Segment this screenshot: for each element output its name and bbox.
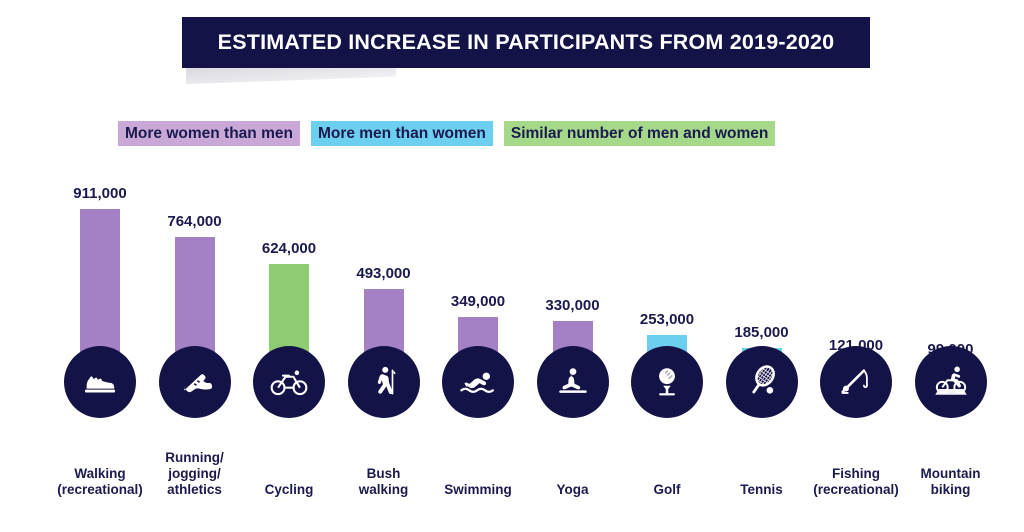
chart-column: 121,000Fishing(recreational): [809, 150, 903, 532]
category-label: Mountainbiking: [900, 466, 1002, 498]
category-label-line: Bush: [333, 466, 435, 482]
category-icon-badge: [820, 346, 892, 418]
category-icon-badge: [442, 346, 514, 418]
category-label: Golf: [616, 482, 718, 498]
chart-column: 624,000Cycling: [242, 150, 336, 532]
chart-column: 493,000Bushwalking: [337, 150, 431, 532]
walking-shoe-icon: [80, 362, 120, 402]
category-label-line: (recreational): [49, 482, 151, 498]
category-label: Running/jogging/athletics: [144, 450, 246, 498]
category-label: Bushwalking: [333, 466, 435, 498]
chart-column: 185,000Tennis: [715, 150, 809, 532]
category-label-line: athletics: [144, 482, 246, 498]
golf-ball-tee-icon: [647, 362, 687, 402]
category-icon-badge: [537, 346, 609, 418]
category-label: Yoga: [522, 482, 624, 498]
category-icon-badge: [631, 346, 703, 418]
category-label-line: Cycling: [238, 482, 340, 498]
bar-value-label: 493,000: [337, 265, 431, 282]
category-label-line: Running/: [144, 450, 246, 466]
chart-column: 764,000Running/jogging/athletics: [148, 150, 242, 532]
bar-value-label: 911,000: [53, 185, 147, 202]
bar-value-label: 624,000: [242, 240, 336, 257]
bicycle-icon: [268, 361, 310, 403]
bar-value-label: 764,000: [148, 213, 242, 230]
page-title: ESTIMATED INCREASE IN PARTICIPANTS FROM …: [218, 30, 835, 55]
legend-item-men: More men than women: [311, 121, 493, 146]
chart-column: 330,000Yoga: [526, 150, 620, 532]
category-label-line: Walking: [49, 466, 151, 482]
category-label: Cycling: [238, 482, 340, 498]
category-label-line: Swimming: [427, 482, 529, 498]
legend-item-women: More women than men: [118, 121, 300, 146]
bar-value-label: 253,000: [620, 311, 714, 328]
tennis-racket-icon: [741, 361, 783, 403]
category-icon-badge: [253, 346, 325, 418]
category-icon-badge: [64, 346, 136, 418]
legend-item-label: Similar number of men and women: [511, 125, 769, 143]
category-label-line: Tennis: [711, 482, 813, 498]
swimmer-icon: [457, 361, 499, 403]
hiker-icon: [364, 362, 404, 402]
chart-column: 253,000Golf: [620, 150, 714, 532]
category-label-line: biking: [900, 482, 1002, 498]
chart-column: 99,000Mountainbiking: [904, 150, 998, 532]
category-label: Walking(recreational): [49, 466, 151, 498]
bar-value-label: 185,000: [715, 324, 809, 341]
legend-item-label: More men than women: [318, 125, 486, 143]
category-label-line: Fishing: [805, 466, 907, 482]
legend-item-similar: Similar number of men and women: [504, 121, 776, 146]
bar-value-label: 349,000: [431, 293, 525, 310]
legend-item-label: More women than men: [125, 125, 293, 143]
category-label-line: Golf: [616, 482, 718, 498]
category-label: Tennis: [711, 482, 813, 498]
yoga-icon: [553, 362, 593, 402]
category-label-line: walking: [333, 482, 435, 498]
chart-column: 911,000Walking(recreational): [53, 150, 147, 532]
category-icon-badge: [159, 346, 231, 418]
bar-chart: 911,000Walking(recreational)764,000Runni…: [0, 150, 1024, 532]
mountain-biker-icon: [930, 361, 972, 403]
category-label: Swimming: [427, 482, 529, 498]
category-icon-badge: [348, 346, 420, 418]
running-shoe-icon: [175, 362, 215, 402]
chart-title-banner: ESTIMATED INCREASE IN PARTICIPANTS FROM …: [182, 17, 870, 68]
bar-value-label: 330,000: [526, 297, 620, 314]
category-label-line: Yoga: [522, 482, 624, 498]
category-label-line: jogging/: [144, 466, 246, 482]
chart-column: 349,000Swimming: [431, 150, 525, 532]
category-label-line: (recreational): [805, 482, 907, 498]
category-label: Fishing(recreational): [805, 466, 907, 498]
fishing-rod-icon: [835, 361, 877, 403]
category-icon-badge: [726, 346, 798, 418]
category-icon-badge: [915, 346, 987, 418]
chart-legend: More women than menMore men than womenSi…: [118, 121, 775, 146]
category-label-line: Mountain: [900, 466, 1002, 482]
title-banner-shadow: [186, 68, 396, 84]
